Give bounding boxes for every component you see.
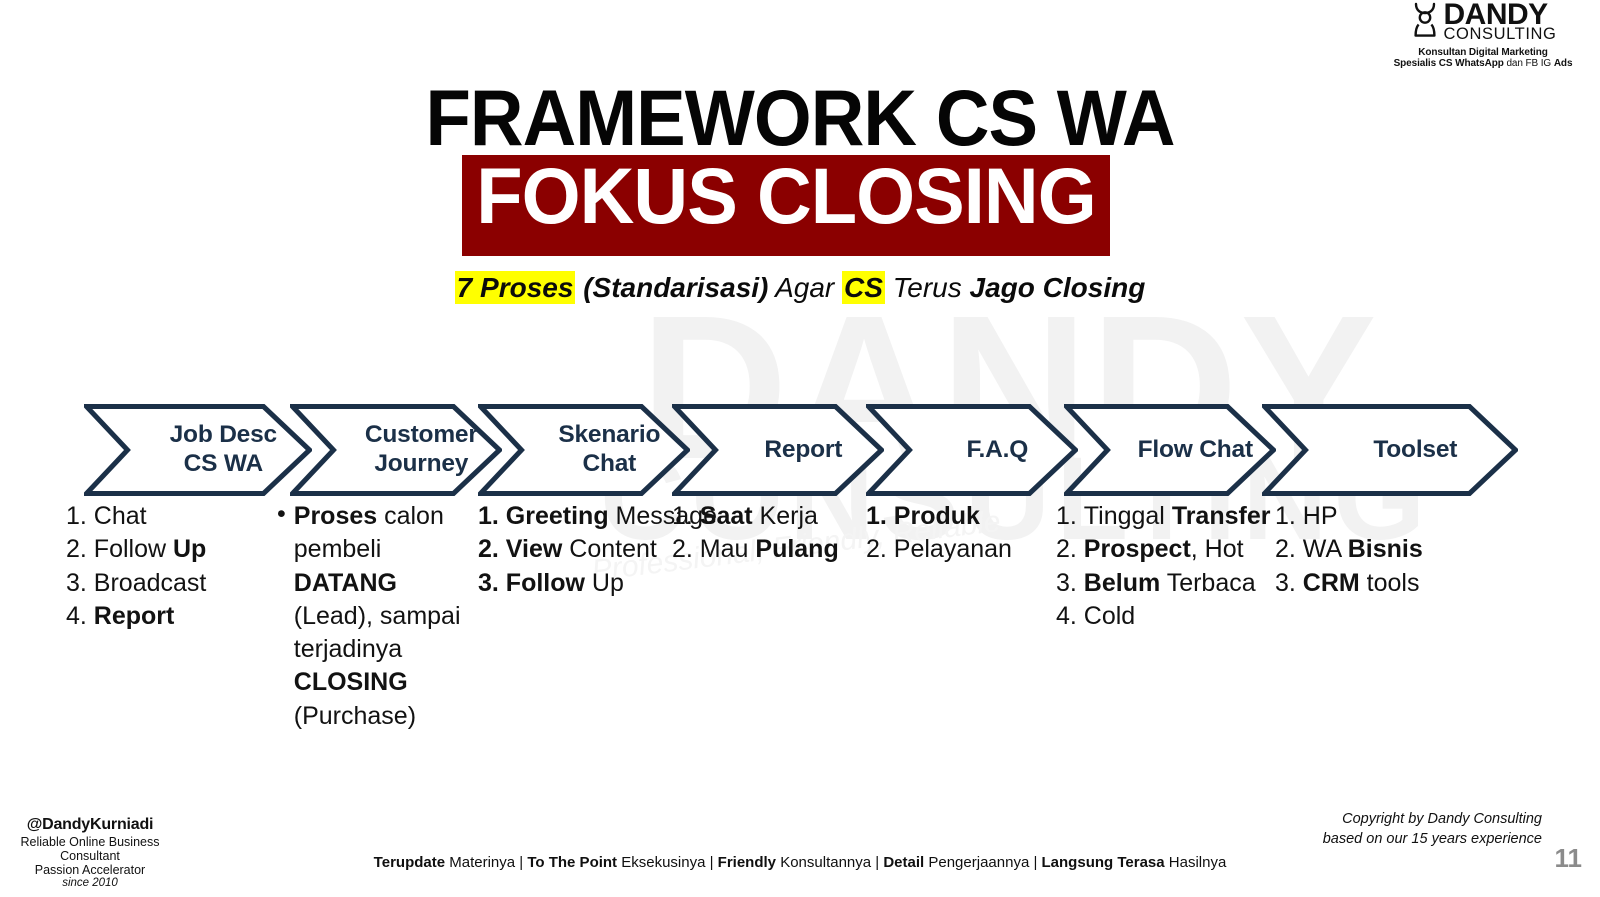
- logo-subtitle-1: Konsultan Digital Marketing: [1378, 47, 1588, 58]
- list-item: 2. View Content: [478, 533, 668, 566]
- list-item: 1. Chat: [66, 500, 281, 533]
- list-item: 1. HP: [1275, 500, 1505, 533]
- text-run-0: Follow: [94, 535, 173, 563]
- subtitle-part-4: Terus: [885, 272, 970, 303]
- list-item-text: Broadcast: [94, 567, 207, 600]
- footer-tagline-part-1: Materinya |: [445, 854, 527, 871]
- footer-left: @DandyKurniadi Reliable Online Business …: [0, 816, 180, 889]
- list-item-text: WA Bisnis: [1303, 533, 1423, 566]
- text-run-0: Belum: [1084, 569, 1160, 597]
- logo-sub2-dan: dan FB IG: [1506, 58, 1551, 69]
- logo-subtitle-2: Spesialis CS WhatsApp dan FB IG Ads: [1378, 58, 1588, 69]
- list-item-text: Cold: [1084, 600, 1135, 633]
- list-item-text: Prospect, Hot: [1084, 533, 1244, 566]
- detail-column-1: 1. Chat2. Follow Up3. Broadcast4. Report: [66, 500, 281, 633]
- footer-handle: @DandyKurniadi: [0, 816, 180, 834]
- process-step-3[interactable]: SkenarioChat: [478, 404, 690, 496]
- text-run-2: DATANG: [294, 569, 397, 597]
- logo-sub2-ads: Ads: [1554, 58, 1573, 69]
- chevron-shape: [478, 404, 690, 496]
- subtitle: 7 Proses (Standarisasi) Agar CS Terus Ja…: [0, 272, 1600, 304]
- text-run-1: Pulang: [755, 535, 838, 563]
- text-run-0: Prospect: [1084, 535, 1191, 563]
- list-item-text: CRM tools: [1303, 567, 1420, 600]
- list-item-number: 1.: [1056, 500, 1084, 533]
- text-run-0: Broadcast: [94, 569, 207, 597]
- person-logo-icon: [1410, 2, 1440, 43]
- text-run-0: Saat: [700, 502, 753, 530]
- text-run-0: Follow: [506, 569, 585, 597]
- subtitle-part-1: (Standarisasi): [575, 272, 768, 303]
- text-run-5: (Purchase): [294, 702, 416, 730]
- logo-wordmark: DANDY CONSULTING: [1444, 3, 1557, 41]
- chevron-shape: [84, 404, 312, 496]
- list-item-text: Produk: [894, 500, 980, 533]
- chevron-shape: [866, 404, 1078, 496]
- detail-column-3: 1. Greeting Message2. View Content3. Fol…: [478, 500, 668, 600]
- list-item-number: 2.: [866, 533, 894, 566]
- text-run-1: , Hot: [1191, 535, 1244, 563]
- list-item-number: 1.: [866, 500, 894, 533]
- text-run-0: WA: [1303, 535, 1348, 563]
- list-item-number: 1.: [672, 500, 700, 533]
- footer-copyright: Copyright by Dandy Consulting based on o…: [1323, 810, 1542, 849]
- text-run-1: Bisnis: [1348, 535, 1423, 563]
- logo-brand-bottom: CONSULTING: [1444, 28, 1557, 42]
- process-step-4[interactable]: Report: [672, 404, 884, 496]
- text-run-1: Kerja: [753, 502, 818, 530]
- logo-sub2-spesialis: Spesialis: [1394, 58, 1436, 69]
- subtitle-part-0: 7 Proses: [455, 271, 576, 304]
- list-item: 2. Pelayanan: [866, 533, 1056, 566]
- footer-tagline-part-7: Pengerjaannya |: [924, 854, 1041, 871]
- list-item-text: Chat: [94, 500, 147, 533]
- list-item: 3. CRM tools: [1275, 567, 1505, 600]
- text-run-0: Produk: [894, 502, 980, 530]
- text-run-1: Terbaca: [1160, 569, 1255, 597]
- text-run-0: CRM: [1303, 569, 1360, 597]
- title-banner: FOKUS CLOSING: [462, 155, 1110, 256]
- list-item-number: 2.: [478, 533, 506, 566]
- logo-row: DANDY CONSULTING: [1378, 2, 1588, 43]
- process-step-5[interactable]: F.A.Q: [866, 404, 1078, 496]
- text-run-0: View: [506, 535, 563, 563]
- list-item: 2. Follow Up: [66, 533, 281, 566]
- footer-tagline-part-2: To The Point: [527, 854, 617, 871]
- process-step-6[interactable]: Flow Chat: [1064, 404, 1276, 496]
- list-item: 2. Mau Pulang: [672, 533, 867, 566]
- list-item-number: 4.: [66, 600, 94, 633]
- list-item: 3. Broadcast: [66, 567, 281, 600]
- text-run-0: Mau: [700, 535, 756, 563]
- bullet-marker: •: [277, 500, 286, 529]
- detail-column-2: •Proses calon pembeli DATANG (Lead), sam…: [277, 500, 477, 733]
- list-item-number: 3.: [66, 567, 94, 600]
- list-item: 1. Produk: [866, 500, 1056, 533]
- list-item-number: 2.: [672, 533, 700, 566]
- chevron-shape: [1262, 404, 1518, 496]
- list-item-text: Saat Kerja: [700, 500, 818, 533]
- footer-tagline-bar: Terupdate Materinya | To The Point Eksek…: [0, 854, 1600, 871]
- list-item-number: 3.: [1056, 567, 1084, 600]
- text-run-0: Pelayanan: [894, 535, 1012, 563]
- text-run-1: Transfer: [1172, 502, 1271, 530]
- list-item-number: 1.: [66, 500, 94, 533]
- list-item-text: View Content: [506, 533, 657, 566]
- list-item: 1. Saat Kerja: [672, 500, 867, 533]
- process-step-2[interactable]: CustomerJourney: [290, 404, 502, 496]
- list-item: 1. Greeting Message: [478, 500, 668, 533]
- list-item-text: Follow Up: [94, 533, 207, 566]
- footer-tagline-part-9: Hasilnya: [1165, 854, 1227, 871]
- footer-left-line3: since 2010: [0, 877, 180, 889]
- text-run-0: Chat: [94, 502, 147, 530]
- title-banner-text: FOKUS CLOSING: [475, 145, 1097, 246]
- slide-canvas: DANDY CONSULTING Professional, Friendly,…: [0, 0, 1600, 897]
- logo-sub2-cs: CS WhatsApp: [1439, 58, 1504, 69]
- text-run-1: Up: [173, 535, 206, 563]
- detail-column-4: 1. Saat Kerja2. Mau Pulang: [672, 500, 867, 567]
- list-item-text: Mau Pulang: [700, 533, 839, 566]
- list-item: 1. Tinggal Transfer: [1056, 500, 1278, 533]
- footer-tagline-part-6: Detail: [883, 854, 924, 871]
- list-item: 2. Prospect, Hot: [1056, 533, 1278, 566]
- list-item-text: Proses calon pembeli DATANG (Lead), samp…: [294, 500, 477, 733]
- list-item-number: 1.: [478, 500, 506, 533]
- subtitle-part-5: Jago Closing: [970, 272, 1146, 303]
- list-item: •Proses calon pembeli DATANG (Lead), sam…: [277, 500, 477, 733]
- list-item-number: 2.: [66, 533, 94, 566]
- chevron-shape: [672, 404, 884, 496]
- list-item-text: Report: [94, 600, 175, 633]
- footer-tagline-part-0: Terupdate: [374, 854, 445, 871]
- text-run-1: tools: [1360, 569, 1420, 597]
- list-item: 3. Belum Terbaca: [1056, 567, 1278, 600]
- list-item-text: Belum Terbaca: [1084, 567, 1256, 600]
- detail-column-7: 1. HP2. WA Bisnis3. CRM tools: [1275, 500, 1505, 600]
- text-run-0: Cold: [1084, 602, 1135, 630]
- copyright-line1: Copyright by Dandy Consulting: [1323, 810, 1542, 830]
- text-run-0: Proses: [294, 502, 377, 530]
- list-item-number: 2.: [1275, 533, 1303, 566]
- list-item-text: Follow Up: [506, 567, 624, 600]
- list-item-number: 3.: [1275, 567, 1303, 600]
- footer-tagline-part-4: Friendly: [718, 854, 776, 871]
- company-logo: DANDY CONSULTING Konsultan Digital Marke…: [1378, 2, 1588, 69]
- chevron-shape: [290, 404, 502, 496]
- footer-tagline-part-8: Langsung Terasa: [1042, 854, 1165, 871]
- text-run-1: Content: [562, 535, 657, 563]
- process-step-1[interactable]: Job DescCS WA: [84, 404, 312, 496]
- text-run-3: (Lead), sampai terjadinya: [294, 602, 461, 663]
- chevron-shape: [1064, 404, 1276, 496]
- text-run-0: HP: [1303, 502, 1338, 530]
- process-step-7[interactable]: Toolset: [1262, 404, 1518, 496]
- subtitle-part-2: Agar: [768, 272, 842, 303]
- text-run-0: Tinggal: [1084, 502, 1172, 530]
- list-item: 4. Cold: [1056, 600, 1278, 633]
- footer-tagline-part-3: Eksekusinya |: [617, 854, 718, 871]
- list-item-number: 3.: [478, 567, 506, 600]
- subtitle-part-3: CS: [842, 271, 885, 304]
- list-item-text: Pelayanan: [894, 533, 1012, 566]
- detail-column-5: 1. Produk2. Pelayanan: [866, 500, 1056, 567]
- list-item-text: Tinggal Transfer: [1084, 500, 1271, 533]
- text-run-0: Greeting: [506, 502, 609, 530]
- text-run-1: Up: [585, 569, 624, 597]
- list-item: 3. Follow Up: [478, 567, 668, 600]
- detail-column-6: 1. Tinggal Transfer2. Prospect, Hot3. Be…: [1056, 500, 1278, 633]
- list-item-number: 1.: [1275, 500, 1303, 533]
- text-run-0: Report: [94, 602, 175, 630]
- footer-tagline-part-5: Konsultannya |: [776, 854, 883, 871]
- process-chevron-row: Job DescCS WACustomerJourneySkenarioChat…: [84, 404, 1518, 496]
- copyright-line2: based on our 15 years experience: [1323, 830, 1542, 850]
- list-item: 4. Report: [66, 600, 281, 633]
- text-run-4: CLOSING: [294, 668, 408, 696]
- list-item-number: 4.: [1056, 600, 1084, 633]
- list-item-text: HP: [1303, 500, 1338, 533]
- list-item: 2. WA Bisnis: [1275, 533, 1505, 566]
- list-item-number: 2.: [1056, 533, 1084, 566]
- page-number: 11: [1555, 843, 1583, 874]
